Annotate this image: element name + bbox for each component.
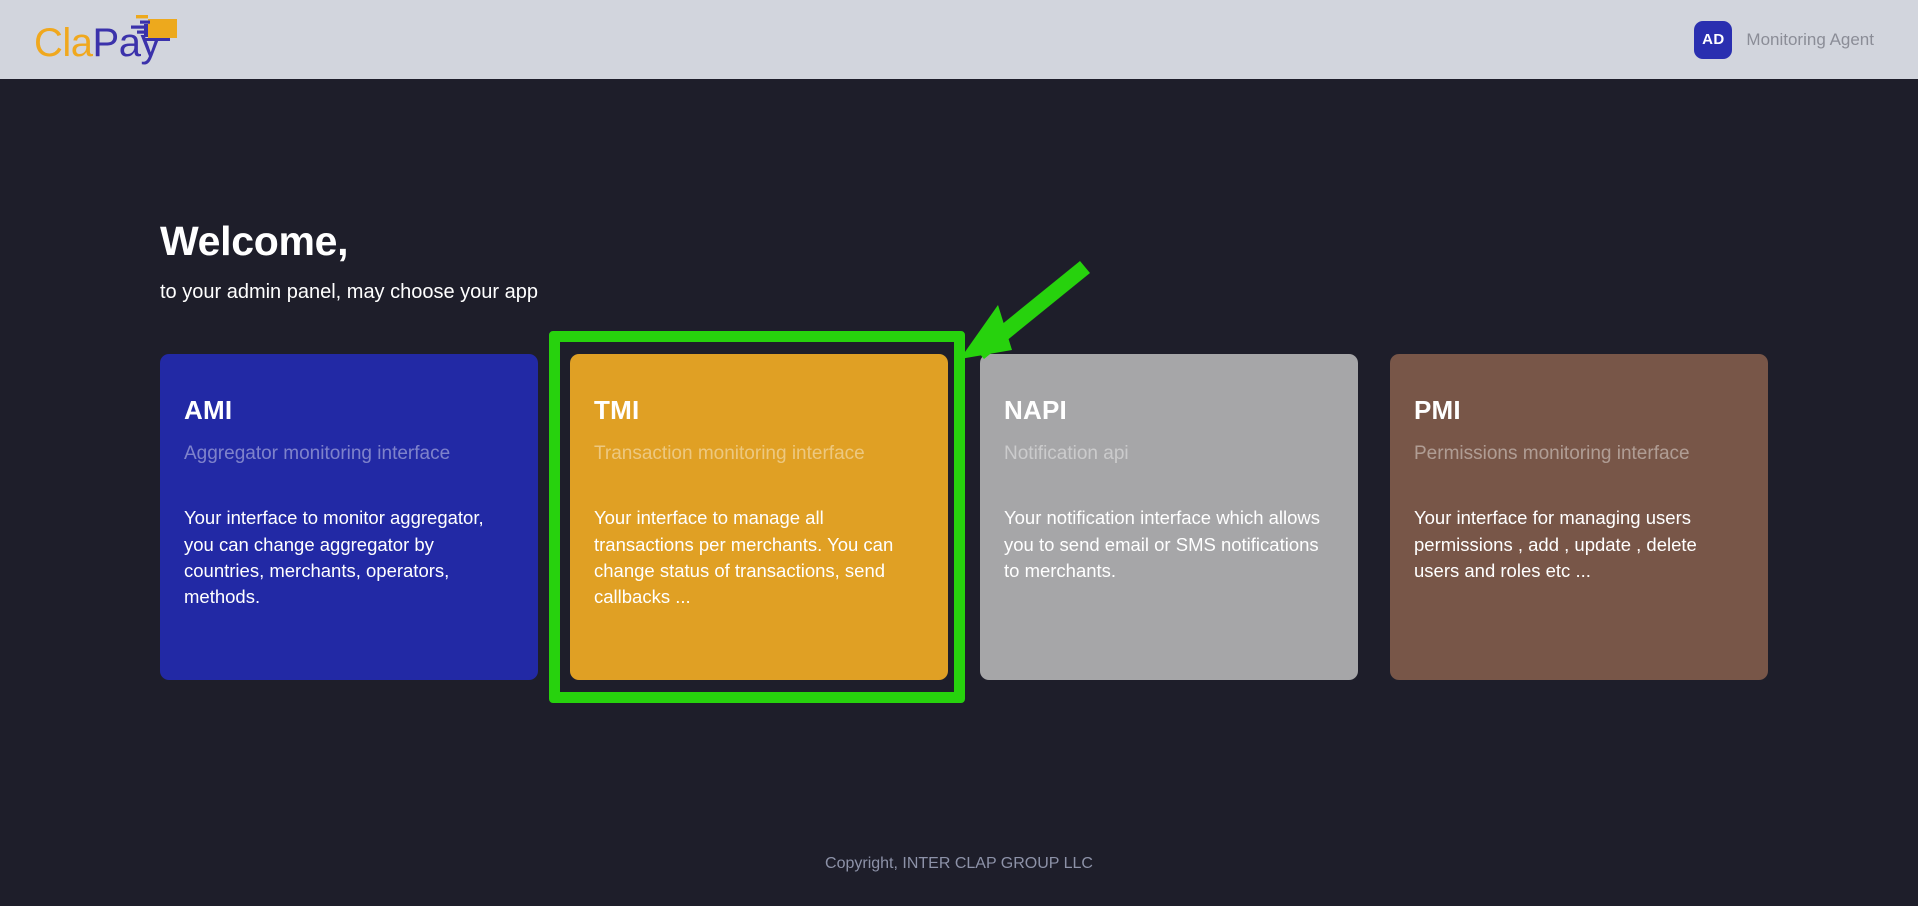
app-header: ClaPay AD Monitoring Agent <box>0 0 1918 79</box>
brand-text-cla: Cla <box>34 21 93 65</box>
app-card-subtitle: Transaction monitoring interface <box>594 443 912 466</box>
avatar[interactable]: AD <box>1694 21 1732 59</box>
brand-mark: ClaPay <box>34 11 202 69</box>
app-card-napi[interactable]: NAPI Notification api Your notification … <box>980 354 1358 680</box>
user-menu[interactable]: AD Monitoring Agent <box>1694 21 1894 59</box>
app-card-description: Your interface to monitor aggregator, yo… <box>184 505 502 610</box>
app-card-subtitle: Aggregator monitoring interface <box>184 443 502 466</box>
clapay-card-speed-icon <box>122 13 178 47</box>
app-card-subtitle: Permissions monitoring interface <box>1414 443 1732 466</box>
app-card-description: Your interface to manage all transaction… <box>594 505 912 610</box>
app-card-title: PMI <box>1414 396 1732 425</box>
app-card-title: NAPI <box>1004 396 1322 425</box>
brand-logo[interactable]: ClaPay <box>34 11 202 69</box>
user-name-label: Monitoring Agent <box>1746 30 1874 50</box>
main-content: Welcome, to your admin panel, may choose… <box>0 79 1918 906</box>
app-card-tmi[interactable]: TMI Transaction monitoring interface You… <box>570 354 948 680</box>
app-card-description: Your interface for managing users permis… <box>1414 505 1732 584</box>
app-card-title: AMI <box>184 396 502 425</box>
app-card-title: TMI <box>594 396 912 425</box>
footer-copyright: Copyright, INTER CLAP GROUP LLC <box>0 855 1918 873</box>
app-card-description: Your notification interface which allows… <box>1004 505 1322 584</box>
app-card-ami[interactable]: AMI Aggregator monitoring interface Your… <box>160 354 538 680</box>
app-card-list: AMI Aggregator monitoring interface Your… <box>160 354 1768 680</box>
page-title: Welcome, <box>160 219 538 264</box>
app-card-pmi[interactable]: PMI Permissions monitoring interface You… <box>1390 354 1768 680</box>
app-card-subtitle: Notification api <box>1004 443 1322 466</box>
welcome-block: Welcome, to your admin panel, may choose… <box>160 219 538 304</box>
page-subtitle: to your admin panel, may choose your app <box>160 280 538 304</box>
